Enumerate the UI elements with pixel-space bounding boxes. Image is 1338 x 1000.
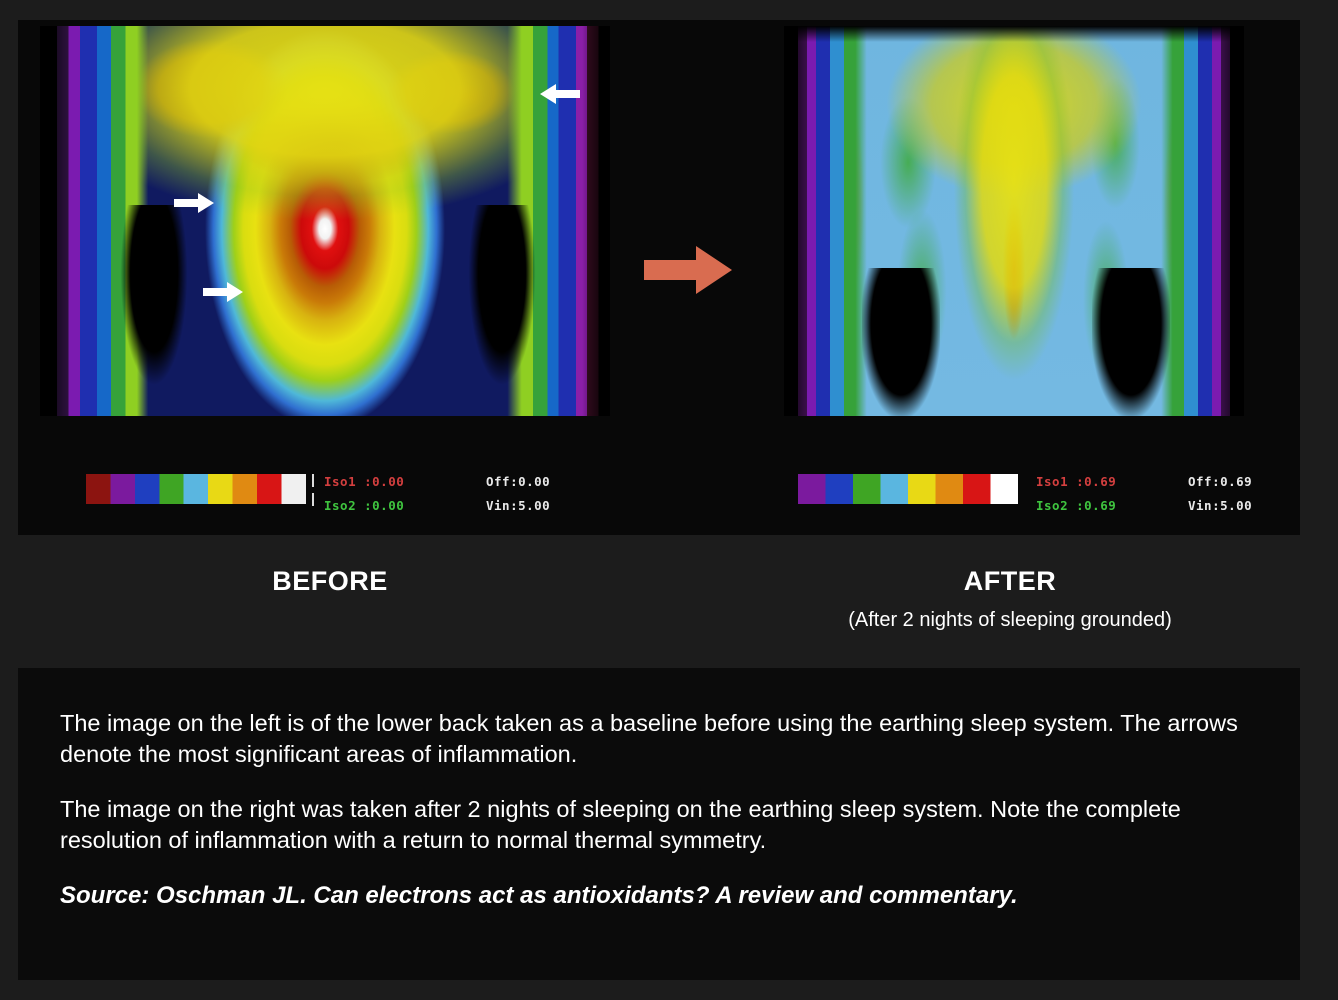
after-right-vignette bbox=[1221, 26, 1244, 416]
scale-ticks-before bbox=[310, 472, 318, 508]
after-void-left bbox=[862, 268, 940, 416]
annotation-arrow-lower-left-icon bbox=[203, 279, 243, 305]
scale-after: Iso1 :0.69 Iso2 :0.69 Off:0.69 Vin:5.00 bbox=[778, 460, 1298, 530]
source-citation: Source: Oschman JL. Can electrons act as… bbox=[60, 880, 1258, 911]
before-left-vignette bbox=[40, 26, 69, 416]
color-bar-after bbox=[798, 474, 1018, 504]
thermal-image-panel: Iso1 :0.00 Iso2 :0.00 Off:0.00 Vin:5.00 … bbox=[18, 20, 1300, 535]
thermogram-after bbox=[784, 26, 1244, 416]
off-readout-before: Off:0.00 bbox=[486, 474, 550, 489]
iso1-readout-before: Iso1 :0.00 bbox=[324, 474, 404, 489]
caption-after-sublabel: (After 2 nights of sleeping grounded) bbox=[760, 609, 1260, 632]
annotation-arrow-upper-right-icon bbox=[540, 81, 580, 107]
iso2-readout-before: Iso2 :0.00 bbox=[324, 498, 404, 513]
caption-after: AFTER (After 2 nights of sleeping ground… bbox=[760, 566, 1260, 632]
off-readout-after: Off:0.69 bbox=[1188, 474, 1252, 489]
caption-after-label: AFTER bbox=[760, 566, 1260, 597]
infographic-page: Iso1 :0.00 Iso2 :0.00 Off:0.00 Vin:5.00 … bbox=[0, 0, 1338, 1000]
caption-before-label: BEFORE bbox=[180, 566, 480, 597]
caption-before: BEFORE bbox=[180, 566, 480, 597]
color-bar-before bbox=[86, 474, 306, 504]
thermogram-before bbox=[40, 26, 610, 416]
after-void-right bbox=[1092, 268, 1170, 416]
description-paragraph-1: The image on the left is of the lower ba… bbox=[60, 708, 1258, 770]
vin-readout-before: Vin:5.00 bbox=[486, 498, 550, 513]
after-left-vignette bbox=[784, 26, 807, 416]
iso2-readout-after: Iso2 :0.69 bbox=[1036, 498, 1116, 513]
vin-readout-after: Vin:5.00 bbox=[1188, 498, 1252, 513]
after-top-vignette bbox=[784, 26, 1244, 42]
thermal-stage: Iso1 :0.00 Iso2 :0.00 Off:0.00 Vin:5.00 … bbox=[18, 20, 1300, 535]
transition-arrow-icon bbox=[644, 242, 732, 298]
description-panel: The image on the left is of the lower ba… bbox=[18, 668, 1300, 980]
description-paragraph-2: The image on the right was taken after 2… bbox=[60, 794, 1258, 856]
before-void-right bbox=[468, 205, 536, 416]
annotation-arrow-mid-left-icon bbox=[174, 190, 214, 216]
after-body-outline bbox=[784, 26, 1244, 416]
iso1-readout-after: Iso1 :0.69 bbox=[1036, 474, 1116, 489]
before-right-vignette bbox=[582, 26, 611, 416]
before-void-left bbox=[120, 205, 188, 416]
scale-before: Iso1 :0.00 Iso2 :0.00 Off:0.00 Vin:5.00 bbox=[66, 460, 606, 530]
